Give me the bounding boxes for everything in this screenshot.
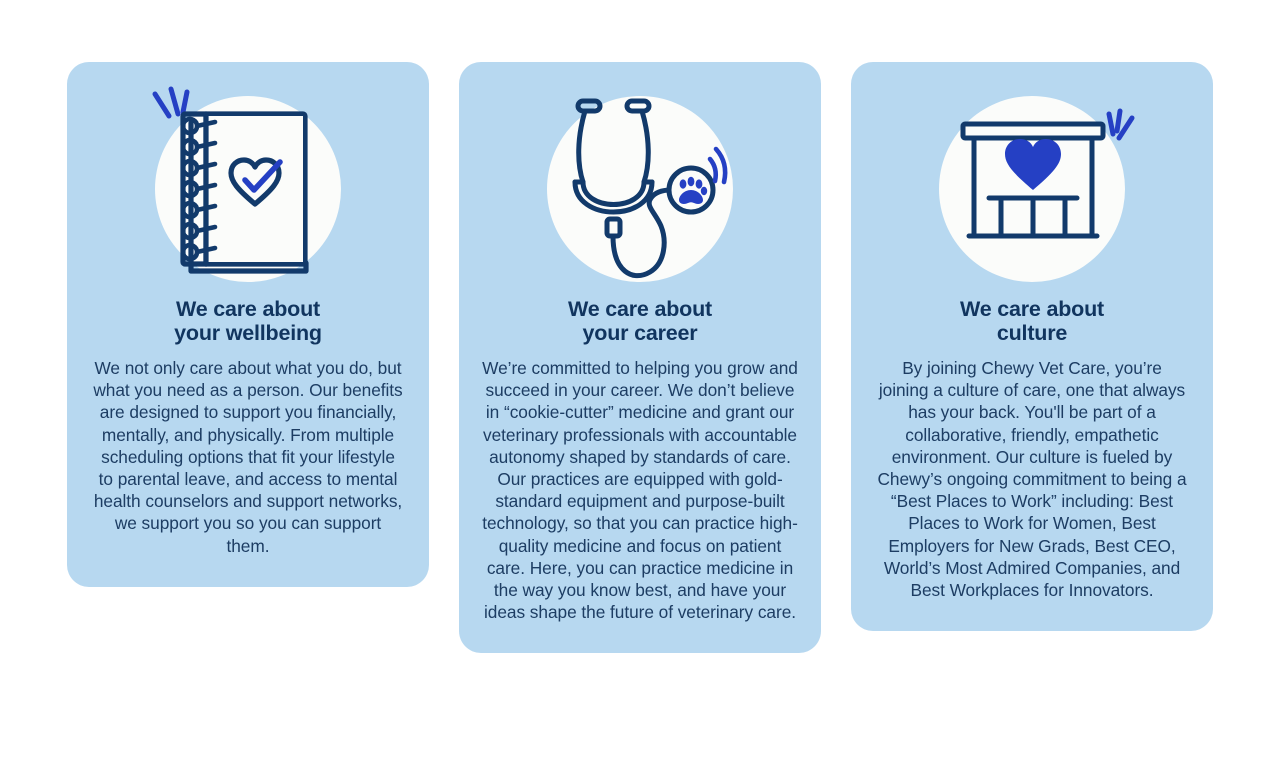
card-career-icon-area: [525, 86, 755, 291]
card-culture-title: We care about culture: [960, 297, 1104, 345]
card-wellbeing: We care about your wellbeing We not only…: [67, 62, 429, 587]
card-wellbeing-icon-area: [133, 86, 363, 291]
card-career-title: We care about your career: [568, 297, 712, 345]
stethoscope-paw-icon: [525, 86, 755, 291]
card-career-body: We’re committed to helping you grow and …: [481, 357, 799, 623]
card-wellbeing-body: We not only care about what you do, but …: [92, 357, 404, 557]
card-culture-icon-area: [917, 86, 1147, 291]
card-culture: We care about culture By joining Chewy V…: [851, 62, 1213, 631]
clinic-building-heart-icon: [917, 86, 1147, 291]
card-wellbeing-title: We care about your wellbeing: [174, 297, 322, 345]
cards-row: We care about your wellbeing We not only…: [67, 62, 1213, 653]
card-career: We care about your career We’re committe…: [459, 62, 821, 653]
notebook-heart-check-icon: [133, 86, 363, 291]
card-culture-body: By joining Chewy Vet Care, you’re joinin…: [876, 357, 1188, 601]
benefits-cards-page: We care about your wellbeing We not only…: [0, 0, 1280, 765]
